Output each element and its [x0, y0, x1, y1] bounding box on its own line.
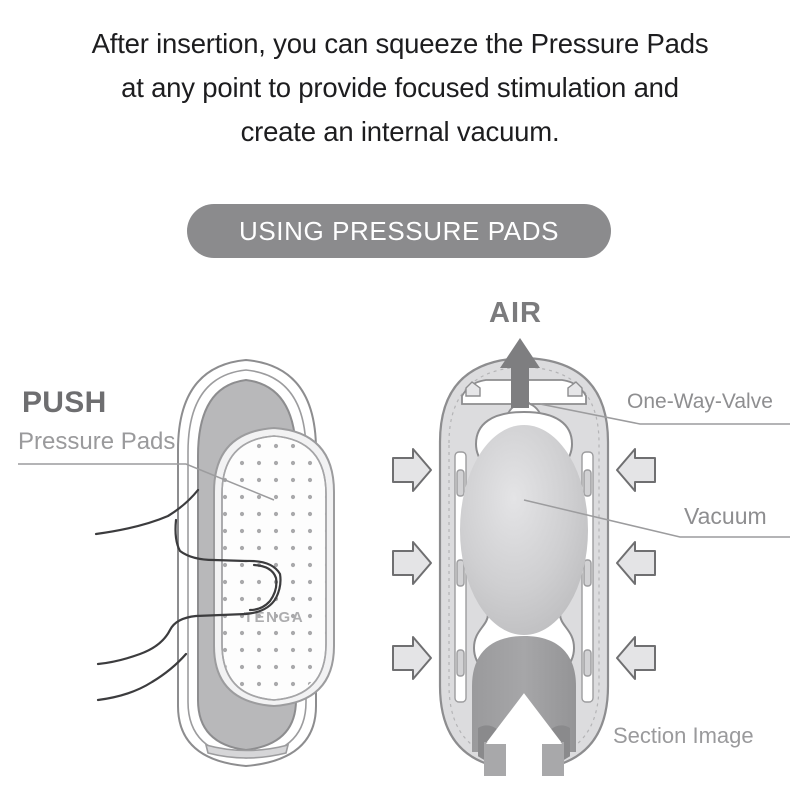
- label-air: AIR: [489, 297, 542, 330]
- label-push: PUSH: [22, 386, 107, 420]
- right-section-illustration: [440, 338, 608, 782]
- label-pressure-pads: Pressure Pads: [18, 428, 175, 456]
- pressure-arrow-right-3: [617, 637, 655, 679]
- label-section-image: Section Image: [613, 723, 754, 749]
- tenga-brand-mark: TENGA: [244, 609, 305, 626]
- vacuum-cavity: [460, 425, 588, 635]
- pressure-arrow-left-1: [393, 449, 431, 491]
- pressure-arrow-right-2: [617, 542, 655, 584]
- pressure-arrow-left-3: [393, 637, 431, 679]
- label-one-way-valve: One-Way-Valve: [627, 390, 773, 414]
- pressure-arrow-left-2: [393, 542, 431, 584]
- instruction-panel: After insertion, you can squeeze the Pre…: [0, 0, 800, 800]
- left-device-illustration: TENGA: [96, 360, 336, 766]
- pressure-arrow-right-1: [617, 449, 655, 491]
- label-vacuum: Vacuum: [684, 503, 767, 530]
